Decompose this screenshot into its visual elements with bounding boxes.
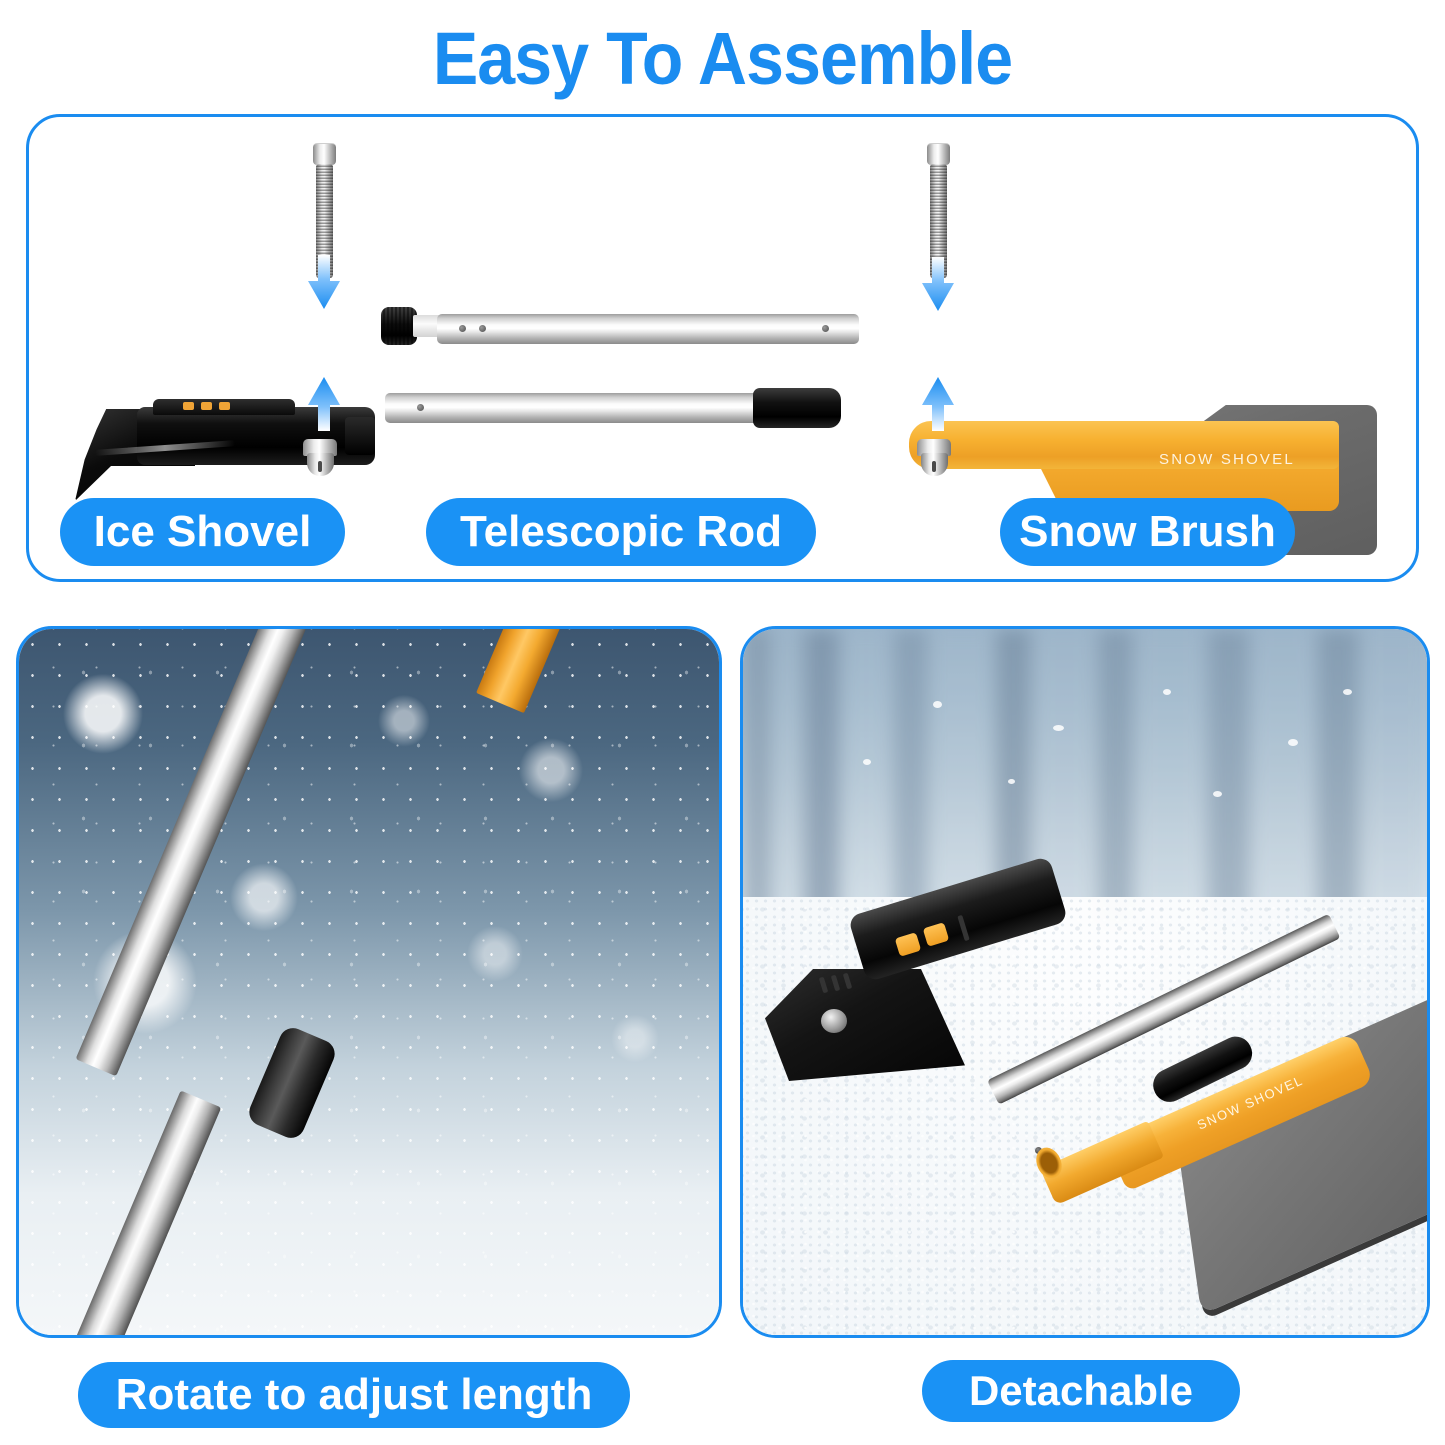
ice-scraper-button <box>183 402 194 410</box>
snow-brush-brand-text: SNOW SHOVEL <box>1159 451 1295 468</box>
label-snow-brush: Snow Brush <box>1000 498 1295 566</box>
falling-snowflake <box>933 701 942 708</box>
rod-hole <box>459 325 466 332</box>
rod-hole <box>822 325 829 332</box>
falling-snowflake <box>1008 779 1015 784</box>
label-telescopic-rod: Telescopic Rod <box>426 498 816 566</box>
down-arrow-icon <box>920 257 956 313</box>
ice-scraper-button <box>219 402 230 410</box>
twist-lock-knob <box>381 307 417 345</box>
detach-panel: SNOW SHOVEL <box>740 626 1430 1338</box>
pole-orange-tip <box>476 626 567 713</box>
page-title: Easy To Assemble <box>58 16 1387 101</box>
nut-slot <box>318 461 322 472</box>
rod-hole <box>417 404 424 411</box>
rod-end-cap <box>753 388 841 428</box>
rod-lower-segment <box>385 393 775 423</box>
rotate-panel <box>16 626 722 1338</box>
nut-slot <box>932 461 936 472</box>
falling-snowflake <box>1213 791 1222 797</box>
falling-snowflake <box>1163 689 1171 695</box>
ice-scraper-button <box>201 402 212 410</box>
pole-upper-section <box>76 626 320 1076</box>
up-arrow-icon <box>306 375 342 431</box>
rod-upper-segment <box>437 314 859 344</box>
falling-snowflake <box>863 759 871 765</box>
rod-hole <box>479 325 486 332</box>
pole-twist-collar <box>245 1024 339 1142</box>
bolt-head-icon <box>927 143 950 165</box>
label-ice-shovel: Ice Shovel <box>60 498 345 566</box>
ice-scraper-connector <box>345 417 375 455</box>
bolt-head-icon <box>313 143 336 165</box>
falling-snowflake <box>1343 689 1352 695</box>
telescopic-pole-photo <box>19 629 722 1338</box>
falling-snowflake <box>1288 739 1298 746</box>
up-arrow-icon <box>920 375 956 431</box>
caption-detachable: Detachable <box>922 1360 1240 1422</box>
down-arrow-icon <box>306 255 342 311</box>
detached-snow-shovel: SNOW SHOVEL <box>1043 899 1430 1229</box>
pole-lower-section <box>64 1090 222 1338</box>
caption-rotate-to-adjust-length: Rotate to adjust length <box>78 1362 630 1428</box>
ice-scraper-lens <box>821 1009 847 1033</box>
falling-snowflake <box>1053 725 1064 731</box>
